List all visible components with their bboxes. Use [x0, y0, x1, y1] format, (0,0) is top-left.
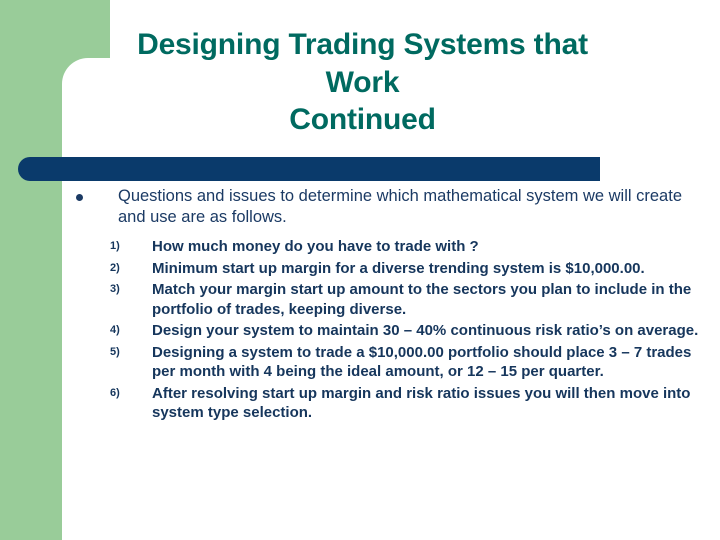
primary-bullet-item: Questions and issues to determine which …	[62, 186, 710, 228]
list-item: 3) Match your margin start up amount to …	[62, 280, 710, 319]
list-item: 4) Design your system to maintain 30 – 4…	[62, 321, 710, 341]
list-item-number: 2)	[110, 261, 140, 275]
list-item-text: After resolving start up margin and risk…	[152, 384, 710, 423]
list-item: 2) Minimum start up margin for a diverse…	[62, 259, 710, 279]
list-item-number: 5)	[110, 345, 140, 359]
disc-bullet-icon	[76, 194, 83, 201]
list-item-number: 6)	[110, 386, 140, 400]
green-left-band-lower-decoration	[0, 180, 61, 540]
list-item-text: How much money do you have to trade with…	[152, 237, 710, 257]
slide-title-line-1: Designing Trading Systems that	[40, 26, 685, 64]
navy-divider-bar-decoration	[18, 157, 600, 181]
list-item-number: 1)	[110, 239, 140, 253]
list-item: 5) Designing a system to trade a $10,000…	[62, 343, 710, 382]
slide-title: Designing Trading Systems that Work Cont…	[40, 26, 685, 139]
list-item-text: Minimum start up margin for a diverse tr…	[152, 259, 710, 279]
list-item-text: Match your margin start up amount to the…	[152, 280, 710, 319]
slide-body-content: Questions and issues to determine which …	[62, 186, 710, 425]
list-item: 1) How much money do you have to trade w…	[62, 237, 710, 257]
slide-title-line-2: Work	[40, 64, 685, 102]
list-item-text: Design your system to maintain 30 – 40% …	[152, 321, 710, 341]
list-item: 6) After resolving start up margin and r…	[62, 384, 710, 423]
slide-title-line-3: Continued	[40, 101, 685, 139]
primary-bullet-text: Questions and issues to determine which …	[118, 186, 710, 228]
numbered-list: 1) How much money do you have to trade w…	[62, 237, 710, 423]
list-item-text: Designing a system to trade a $10,000.00…	[152, 343, 710, 382]
presentation-slide: Designing Trading Systems that Work Cont…	[0, 0, 720, 540]
list-item-number: 4)	[110, 323, 140, 337]
list-item-number: 3)	[110, 282, 140, 296]
